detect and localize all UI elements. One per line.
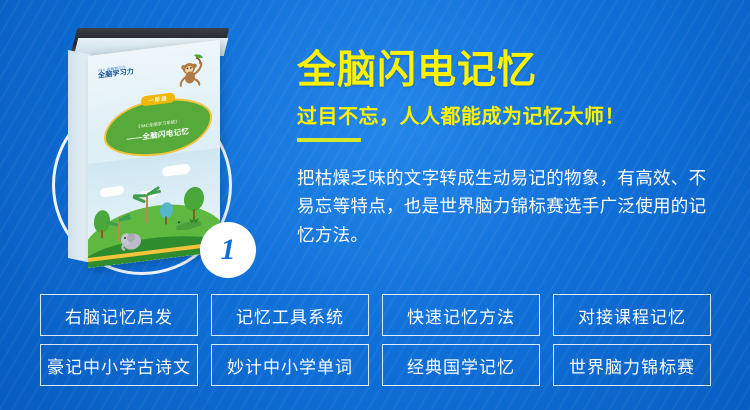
promo-banner: IMC 全脑学习力 全脑学习力	[0, 0, 750, 410]
tree-trunk	[165, 216, 167, 224]
box-front-face: IMC 全脑学习力 全脑学习力	[88, 40, 220, 268]
stage-label: 一阶段	[141, 92, 175, 106]
elephant-icon	[118, 225, 144, 252]
feature-item-2[interactable]: 记忆工具系统	[211, 294, 369, 336]
feature-item-8[interactable]: 世界脑力锦标赛	[553, 344, 711, 386]
cloud-icon	[100, 186, 124, 198]
feature-item-6[interactable]: 妙计中小学单词	[211, 344, 369, 386]
divider-rule	[297, 138, 361, 142]
crocodile-icon	[174, 212, 204, 236]
brand-logo: IMC 全脑学习力 全脑学习力	[98, 64, 134, 81]
monkey-icon	[172, 51, 208, 89]
tree-trunk	[101, 230, 103, 238]
headline: 全脑闪电记忆	[297, 50, 727, 92]
description-paragraph: 把枯燥乏味的文字转成生动易记的物象，有高效、不易忘等特点，也是世界脑力锦标赛选手…	[297, 164, 717, 249]
step-number-badge: 1	[200, 222, 256, 278]
product-artwork: IMC 全脑学习力 全脑学习力	[0, 0, 290, 300]
box-spine	[68, 50, 90, 263]
feature-grid: 右脑记忆启发 记忆工具系统 快速记忆方法 对接课程记忆 豪记中小学古诗文 妙计中…	[40, 294, 712, 386]
feature-item-5[interactable]: 豪记中小学古诗文	[40, 344, 198, 386]
palm-tree-icon	[146, 195, 148, 223]
palm-leaf	[133, 194, 147, 197]
cloud-icon	[162, 163, 190, 176]
subheadline: 过目不忘，人人都能成为记忆大师！	[297, 100, 727, 129]
copy-block: 全脑闪电记忆 过目不忘，人人都能成为记忆大师！ 把枯燥乏味的文字转成生动易记的物…	[297, 50, 727, 249]
feature-item-1[interactable]: 右脑记忆启发	[40, 294, 198, 336]
feature-item-4[interactable]: 对接课程记忆	[553, 294, 711, 336]
feature-item-3[interactable]: 快速记忆方法	[382, 294, 540, 336]
feature-item-7[interactable]: 经典国学记忆	[382, 344, 540, 386]
